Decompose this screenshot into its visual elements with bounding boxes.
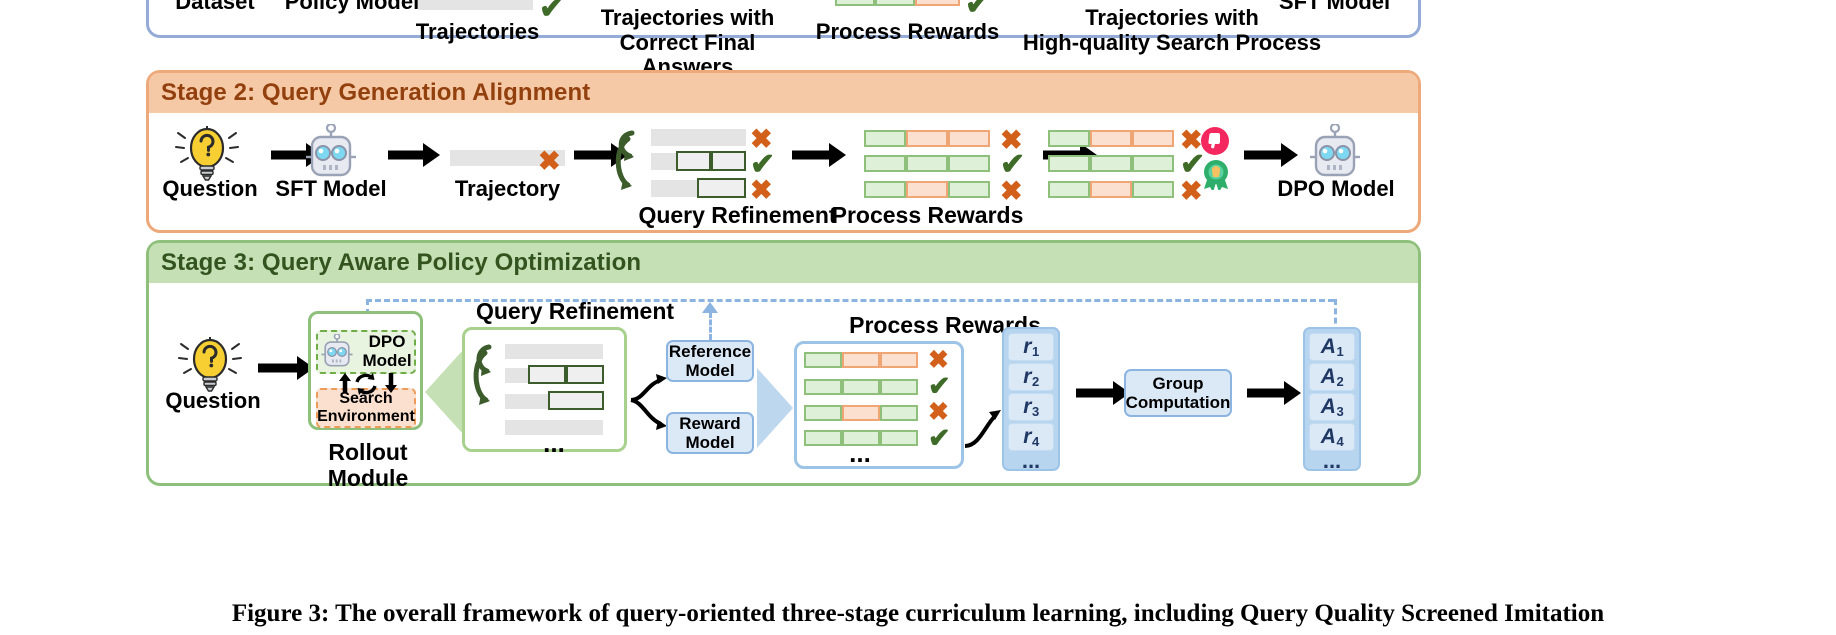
figure-canvas: Dataset Policy Model ✔ Trajectories Traj…: [0, 0, 1836, 635]
stage2-label-sft-model: SFT Model: [272, 177, 390, 202]
stage1-reward-seg-2: [875, 0, 915, 6]
advantage-cell-a2-base: A: [1321, 365, 1336, 389]
rewards-stack-ellipsis: ...: [1008, 448, 1054, 474]
advantage-cell-a4-base: A: [1321, 425, 1336, 449]
reference-model-box[interactable]: Reference Model: [666, 340, 754, 382]
stage3-label-dpo-model: DPO Model: [356, 333, 418, 370]
stage2-refine-seg-3a: [697, 178, 746, 198]
group-computation-box[interactable]: Group Computation: [1124, 369, 1232, 417]
stage1-label-trajectories: Trajectories: [410, 20, 545, 45]
stage3-pr-ellipsis: ...: [830, 438, 890, 469]
stage3-refine-seg-2b: [566, 365, 604, 384]
robot-icon: [302, 124, 360, 182]
figure-caption: Figure 3: The overall framework of query…: [0, 600, 1836, 628]
stage1-label-sft-model: SFT Model: [1262, 0, 1407, 15]
stage2-refine-bar-1: [651, 129, 746, 146]
stage2-label-process-rewards: Process Rewards: [830, 203, 1025, 229]
reward-cell-r3: r3: [1008, 393, 1054, 421]
stage1-label-policy-model: Policy Model: [262, 0, 442, 15]
stage2-label-dpo-model: DPO Model: [1272, 177, 1400, 202]
stage-2-title: Stage 2: Query Generation Alignment: [149, 73, 1418, 113]
reward-cell-r3-sub: 3: [1032, 404, 1039, 419]
reward-cell-r4: r4: [1008, 423, 1054, 451]
reward-cell-r2-sub: 2: [1032, 374, 1039, 389]
advantage-cell-a3-sub: 3: [1336, 404, 1343, 419]
stage3-pr-mark-1: ✖: [928, 348, 949, 373]
stage3-label-query-refinement: Query Refinement: [455, 299, 695, 325]
advantage-cell-a3: A3: [1309, 393, 1355, 421]
reward-cell-r2-base: r: [1023, 365, 1031, 389]
stage1-reward-seg-3: [915, 0, 960, 6]
group-computation-label: Group Computation: [1126, 374, 1231, 412]
stage3-pr-mark-3: ✖: [928, 400, 949, 425]
stage3-branch-arrows: [471, 341, 507, 409]
stage2-label-question: Question: [155, 177, 265, 202]
advantage-cell-a4: A4: [1309, 423, 1355, 451]
advantage-cell-a2-sub: 2: [1336, 374, 1343, 389]
reward-model-label: Reward Model: [679, 414, 740, 452]
stage2-branch-arrows: [612, 126, 656, 194]
reward-cell-r1: r1: [1008, 333, 1054, 361]
lightbulb-question-icon: [178, 337, 244, 393]
advantages-stack-ellipsis: ...: [1309, 448, 1355, 474]
stage3-label-rollout-module: Rollout Module: [288, 440, 448, 492]
feedback-dashed-mid-rise: [709, 312, 712, 340]
stage3-refine-bar-1: [505, 344, 603, 359]
stage2-refine-seg-2a: [676, 151, 711, 171]
thumbs-down-badge-icon: [1200, 126, 1230, 156]
stage3-pr-mark-4: ✔: [928, 425, 951, 452]
stage1-trajectory-bar: [418, 0, 533, 10]
rosette-award-badge-icon: [1200, 158, 1232, 190]
stage2-rewards-mark-3: ✖: [1000, 178, 1023, 205]
stage1-label-trajectories-correct: Trajectories with Correct Final Answers: [575, 6, 800, 80]
stage2-cross-trajectory: ✖: [538, 148, 561, 175]
reference-model-label: Reference Model: [669, 342, 751, 380]
stage3-refine-ellipsis: ...: [505, 428, 603, 459]
stage1-reward-seg-1: [835, 0, 875, 6]
advantage-cell-a2: A2: [1309, 363, 1355, 391]
reward-cell-r4-base: r: [1023, 425, 1031, 449]
advantage-cell-a3-base: A: [1321, 395, 1336, 419]
robot-icon: [319, 334, 355, 370]
robot-icon: [1306, 124, 1364, 182]
stage1-label-dataset: Dataset: [150, 0, 280, 15]
stage3-refine-seg-3a: [548, 391, 604, 410]
refresh-cycle-icon: [352, 371, 380, 397]
stage2-refine-seg-2b: [711, 151, 746, 171]
stage3-pr-mark-2: ✔: [928, 373, 951, 400]
stage1-label-process-rewards: Process Rewards: [815, 20, 1000, 45]
stage-3-title: Stage 3: Query Aware Policy Optimization: [149, 243, 1418, 283]
rollout-to-refinement-wedge: [425, 350, 463, 434]
advantage-cell-a4-sub: 4: [1336, 434, 1343, 449]
reward-to-process-wedge: [757, 368, 793, 448]
stage3-refine-seg-2a: [528, 365, 566, 384]
lightbulb-question-icon: [175, 126, 241, 182]
rewards-to-stack-arrow: [963, 400, 1007, 448]
advantage-cell-a1: A1: [1309, 333, 1355, 361]
advantage-cell-a1-sub: 1: [1336, 344, 1343, 359]
reward-cell-r1-sub: 1: [1032, 344, 1039, 359]
reward-model-box[interactable]: Reward Model: [666, 412, 754, 454]
reward-cell-r1-base: r: [1023, 335, 1031, 359]
feedback-arrowhead-up: [702, 302, 718, 313]
reward-cell-r3-base: r: [1023, 395, 1031, 419]
stage1-tick-2: ✔: [965, 0, 990, 20]
stage2-refine-mark-3: ✖: [750, 177, 773, 204]
reward-cell-r2: r2: [1008, 363, 1054, 391]
reward-cell-r4-sub: 4: [1032, 434, 1039, 449]
stage3-label-question: Question: [158, 389, 268, 414]
stage2-label-trajectory: Trajectory: [440, 177, 575, 202]
advantage-cell-a1-base: A: [1321, 335, 1336, 359]
